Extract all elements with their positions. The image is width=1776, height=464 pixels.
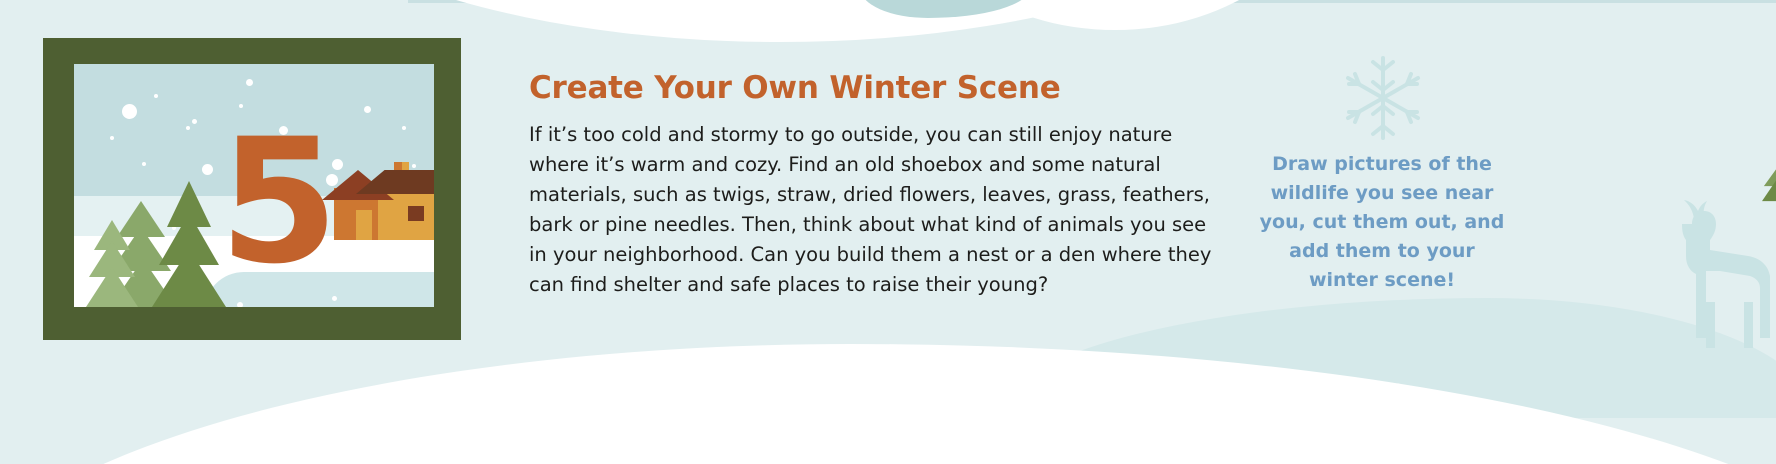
pine-tree-icon	[152, 181, 226, 307]
snowfall-dot	[364, 106, 371, 113]
snowfall-dot	[110, 136, 114, 140]
pine-tree-icon	[86, 220, 138, 307]
activity-copy-block: Create Your Own Winter Scene If it’s too…	[529, 70, 1219, 300]
activity-description: If it’s too cold and stormy to go outsid…	[529, 120, 1219, 300]
snowfall-dot	[192, 119, 197, 124]
snowfall-dot	[402, 126, 406, 130]
snowfall-dot	[202, 164, 213, 175]
house-window	[408, 206, 424, 221]
snowfall-dot	[237, 302, 243, 307]
deer-icon	[1660, 190, 1776, 350]
snowfall-dot	[122, 104, 137, 119]
snowfall-dot	[186, 126, 190, 130]
snowflake-icon	[1328, 48, 1438, 148]
snowfall-dot	[246, 79, 253, 86]
page-title: Create Your Own Winter Scene	[529, 70, 1219, 106]
callout-text: Draw pictures of the wildlife you see ne…	[1258, 150, 1506, 295]
snowfall-dot	[374, 244, 382, 252]
house-icon	[322, 162, 434, 240]
winter-activity-page: 5 Create Your Own Winter Scene If it’s t…	[0, 0, 1776, 464]
activity-number: 5	[219, 116, 335, 288]
snowfall-dot	[142, 162, 146, 166]
illustration-frame: 5	[43, 38, 461, 340]
winter-scene-illustration: 5	[74, 64, 434, 307]
snowfall-dot	[154, 94, 158, 98]
house-door	[356, 210, 372, 240]
snowfall-dot	[326, 174, 338, 186]
